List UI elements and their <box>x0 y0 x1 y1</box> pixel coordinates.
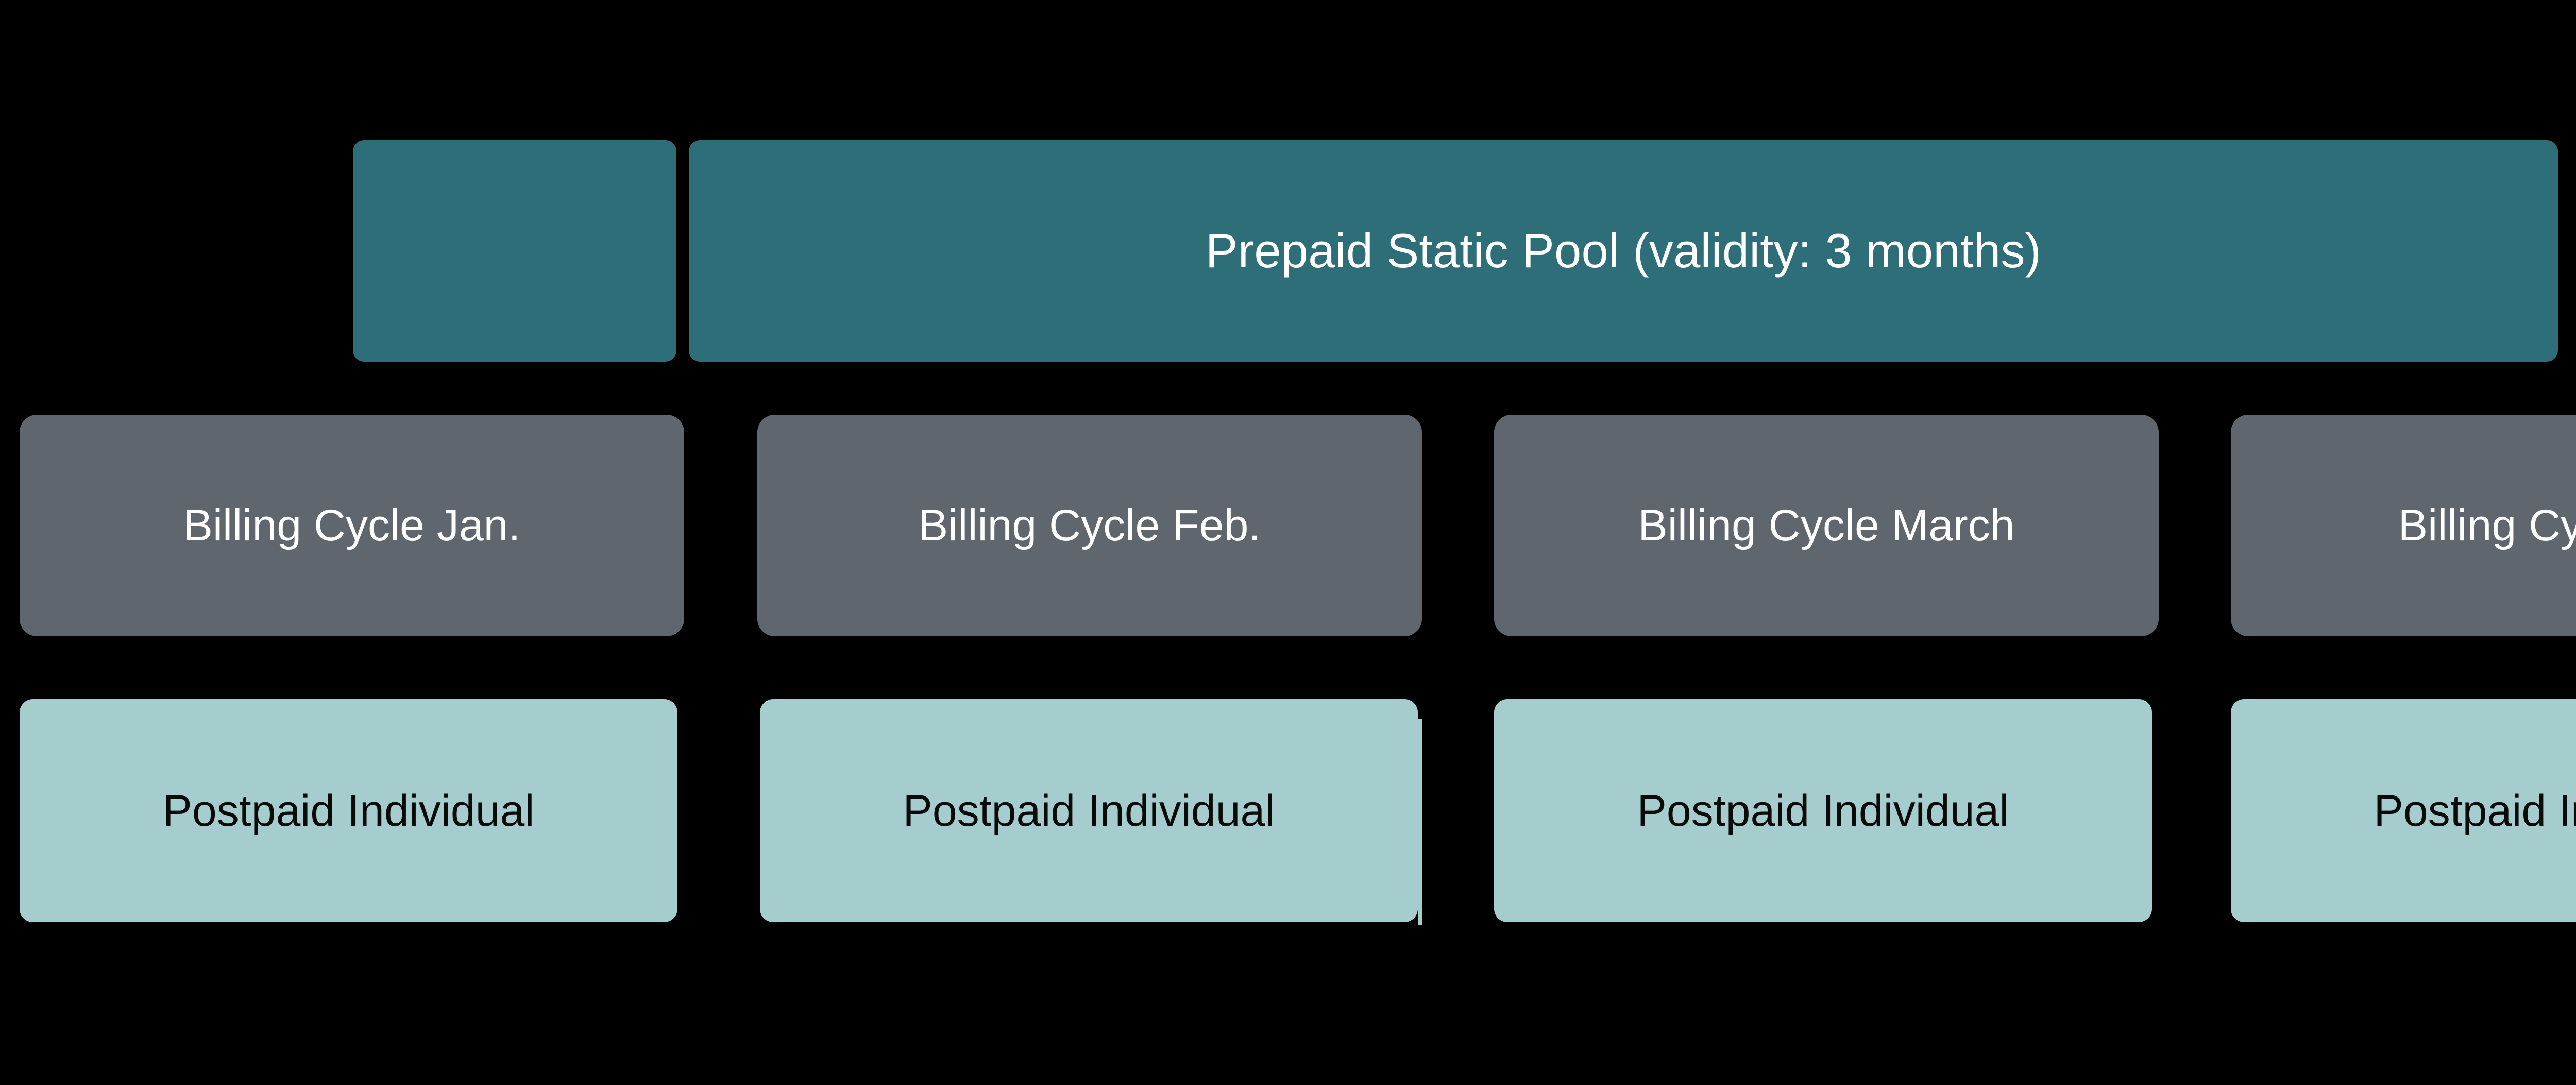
postpaid-card-4[interactable]: Postpaid Individual <box>2231 699 2576 922</box>
prepaid-static-pool-label: Prepaid Static Pool (validity: 3 months) <box>1206 227 2041 275</box>
postpaid-card-label: Postpaid Individual <box>2374 789 2576 833</box>
billing-cycle-card-jan[interactable]: Billing Cycle Jan. <box>20 415 684 636</box>
postpaid-card-label: Postpaid Individual <box>903 789 1275 833</box>
diagram-canvas: Prepaid Static Pool (validity: 3 months)… <box>0 0 2576 1085</box>
postpaid-card-label: Postpaid Individual <box>1637 789 2009 833</box>
billing-cycle-label: Billing Cycle Jan. <box>183 503 521 548</box>
postpaid-card-seam-2 <box>1418 719 1422 925</box>
postpaid-card-label: Postpaid Individual <box>163 789 535 833</box>
billing-cycle-label: Billing Cycle Apr. <box>2398 503 2576 548</box>
prepaid-pool-stub[interactable] <box>353 140 676 362</box>
postpaid-card-1[interactable]: Postpaid Individual <box>20 699 677 922</box>
prepaid-static-pool-bar[interactable]: Prepaid Static Pool (validity: 3 months) <box>689 140 2558 362</box>
billing-cycle-label: Billing Cycle March <box>1638 503 2014 548</box>
billing-cycle-label: Billing Cycle Feb. <box>919 503 1261 548</box>
billing-cycle-card-feb[interactable]: Billing Cycle Feb. <box>757 415 1422 636</box>
postpaid-card-3[interactable]: Postpaid Individual <box>1494 699 2152 922</box>
billing-cycle-card-apr[interactable]: Billing Cycle Apr. <box>2231 415 2576 636</box>
billing-cycle-card-march[interactable]: Billing Cycle March <box>1494 415 2159 636</box>
postpaid-card-2[interactable]: Postpaid Individual <box>760 699 1418 922</box>
